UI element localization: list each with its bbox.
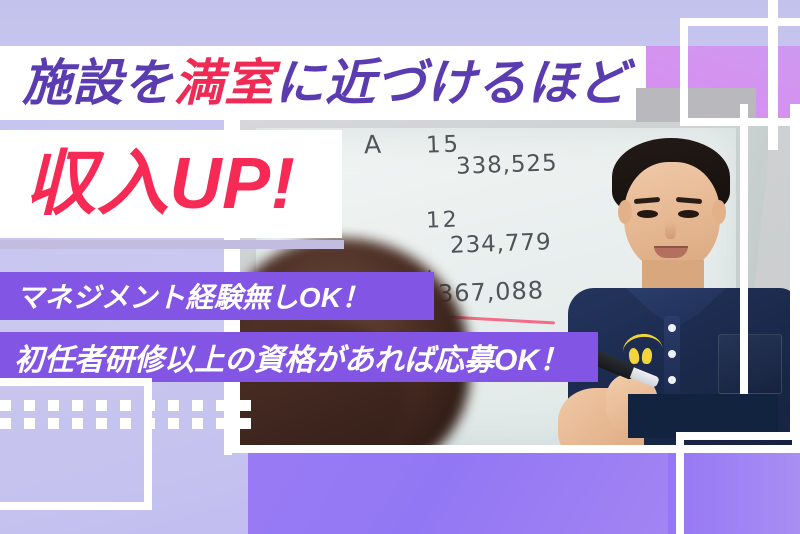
ribbon-qualification-requirement: 初任者研修以上の資格があれば応募OK！ (0, 332, 598, 382)
dot (192, 418, 203, 429)
logo-footprint-right (641, 348, 653, 365)
staff-polo-button-low (668, 376, 676, 384)
recruitment-banner: A 15 338,525 12 234,779 | 367,088 231,49… (0, 0, 800, 534)
whiteboard-row2-value: 234,779 (450, 229, 552, 259)
staff-ear-left (618, 200, 632, 224)
dot (192, 400, 203, 411)
whiteboard-row2-qty: 12 (426, 207, 460, 233)
dot (240, 400, 251, 411)
whiteboard-label-a: A (364, 130, 388, 160)
staff-polo-button-mid (668, 350, 676, 358)
staff-nose (665, 222, 676, 239)
decorative-frame-bottom-right (676, 432, 800, 534)
ribbon-2-label: 初任者研修以上の資格があれば応募OK！ (0, 335, 569, 379)
staff-polo-pocket (718, 334, 782, 394)
ribbon-no-management-experience: マネジメント経験無しOK！ (0, 272, 434, 320)
dot (168, 418, 179, 429)
white-stripe-right-outer (790, 104, 800, 434)
subheadline-band-underline (0, 240, 344, 249)
subheadline-text: 収入UP! (24, 132, 296, 236)
dot (216, 400, 227, 411)
ribbon-1-label: マネジメント経験無しOK！ (0, 276, 370, 316)
headline-text: 施設を満室に近づけるほど (22, 52, 628, 114)
dot (168, 400, 179, 411)
headline-band: 施設を満室に近づけるほど (0, 46, 646, 120)
white-vertical-bar-top-right (768, 0, 778, 150)
dot (240, 418, 251, 429)
staff-eye-left (637, 210, 658, 218)
subheadline-band: 収入UP! (0, 130, 342, 238)
staff-eye-right (678, 210, 699, 218)
white-stripe-right-inner (740, 104, 748, 434)
staff-ear-right (712, 200, 726, 224)
whiteboard-row1-value: 338,525 (456, 150, 558, 180)
headline-part2: に近づけるほど (275, 55, 629, 111)
dot (216, 418, 227, 429)
staff-polo-button-top (668, 324, 676, 332)
logo-arc (621, 332, 663, 353)
headline-part1: 施設を (22, 55, 174, 111)
headline-highlight: 満室 (174, 55, 275, 111)
decorative-frame-bottom-left (0, 378, 152, 510)
